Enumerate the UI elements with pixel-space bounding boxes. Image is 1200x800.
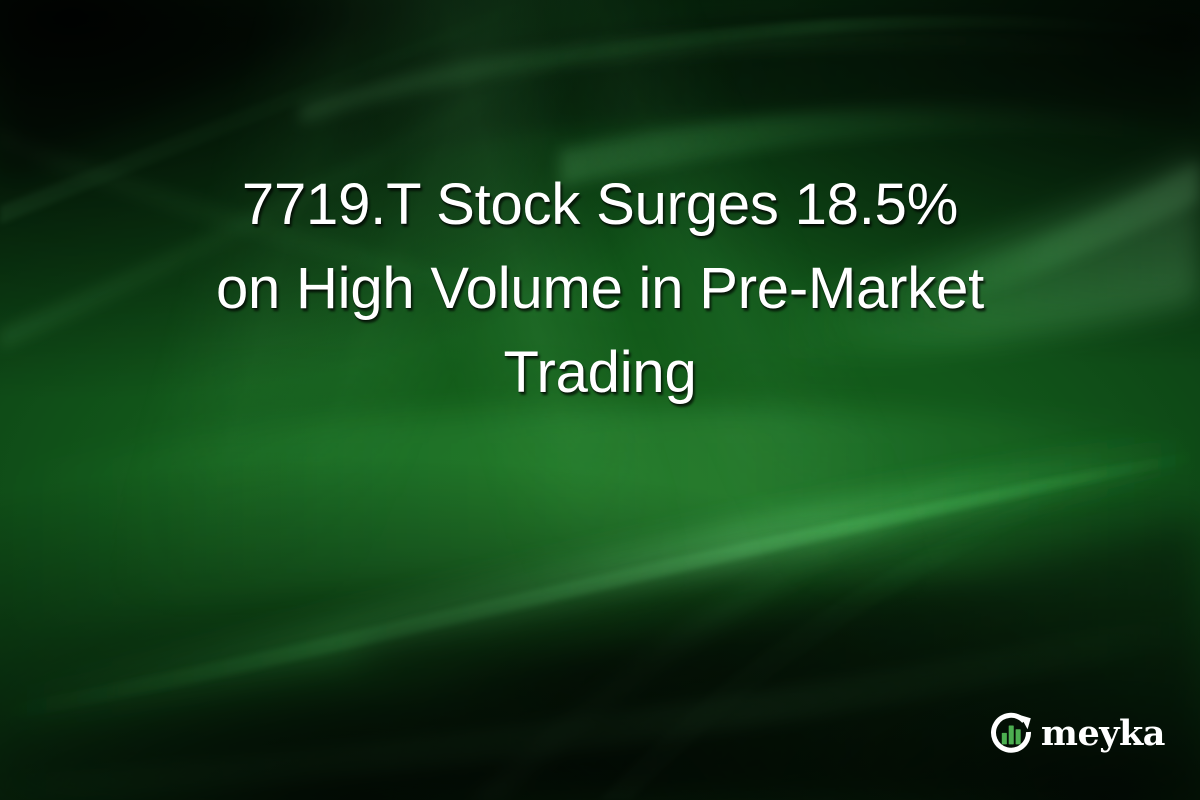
headline-line-3: Trading	[52, 331, 1148, 415]
headline-line-2: on High Volume in Pre-Market	[52, 247, 1148, 331]
meyka-logo[interactable]: meyka	[988, 709, 1165, 755]
headline-line-1: 7719.T Stock Surges 18.5%	[52, 163, 1148, 247]
headline: 7719.T Stock Surges 18.5% on High Volume…	[0, 163, 1200, 415]
meyka-wordmark: meyka	[1041, 716, 1165, 751]
meyka-circular-bar-chart-icon	[988, 709, 1034, 755]
article-share-banner: 7719.T Stock Surges 18.5% on High Volume…	[0, 0, 1200, 800]
